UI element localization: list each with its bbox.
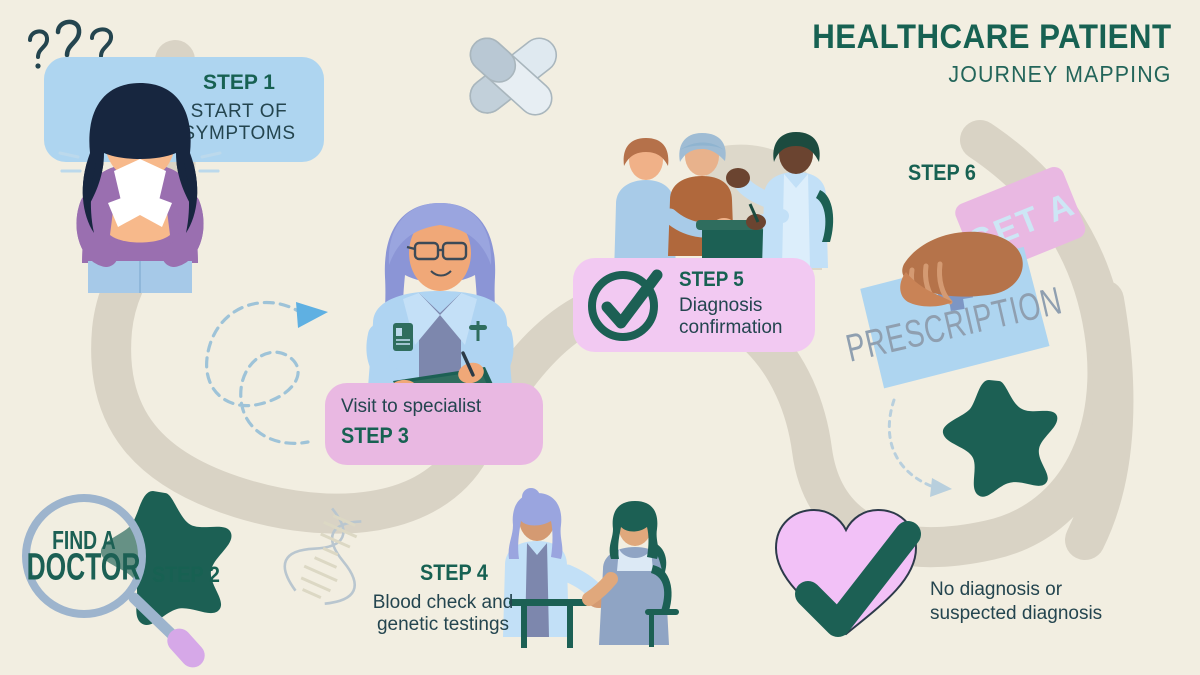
step1-description: START OF SYMPTOMS	[164, 101, 314, 146]
step1-card[interactable]: STEP 1 START OF SYMPTOMS	[44, 57, 324, 162]
infographic-slide: FIND A DOCTOR STEP 1 START	[0, 0, 1200, 675]
outcome-text: No diagnosis or suspected diagnosis	[930, 578, 1130, 626]
page-title: HEALTHCARE PATIENT	[813, 20, 1172, 56]
step3-description: Visit to specialist	[341, 396, 481, 418]
title-block: HEALTHCARE PATIENT JOURNEY MAPPING	[781, 20, 1172, 88]
step5-card[interactable]: STEP 5 Diagnosis confirmation	[573, 258, 815, 352]
illustration-specialist	[345, 195, 535, 410]
step4-description: Blood check and genetic testings	[348, 592, 538, 637]
check-circle-icon	[583, 267, 667, 345]
step5-label: STEP 5	[679, 268, 744, 292]
find-a-doctor-line2: DOCTOR	[27, 544, 141, 587]
pills-icon	[452, 14, 572, 134]
illustration-consultation	[598, 130, 828, 275]
step3-label: STEP 3	[341, 423, 409, 449]
heart-with-check-icon	[766, 498, 926, 643]
page-subtitle: JOURNEY MAPPING	[809, 61, 1172, 88]
illustration-prescription: GET A PRESCRIPTION	[848, 178, 1086, 398]
step1-label: STEP 1	[164, 71, 314, 95]
step5-description: Diagnosis confirmation	[679, 295, 815, 340]
step3-card[interactable]: Visit to specialist STEP 3	[325, 383, 543, 465]
step4-label: STEP 4	[420, 560, 488, 586]
step2-label: STEP 2	[152, 562, 220, 588]
